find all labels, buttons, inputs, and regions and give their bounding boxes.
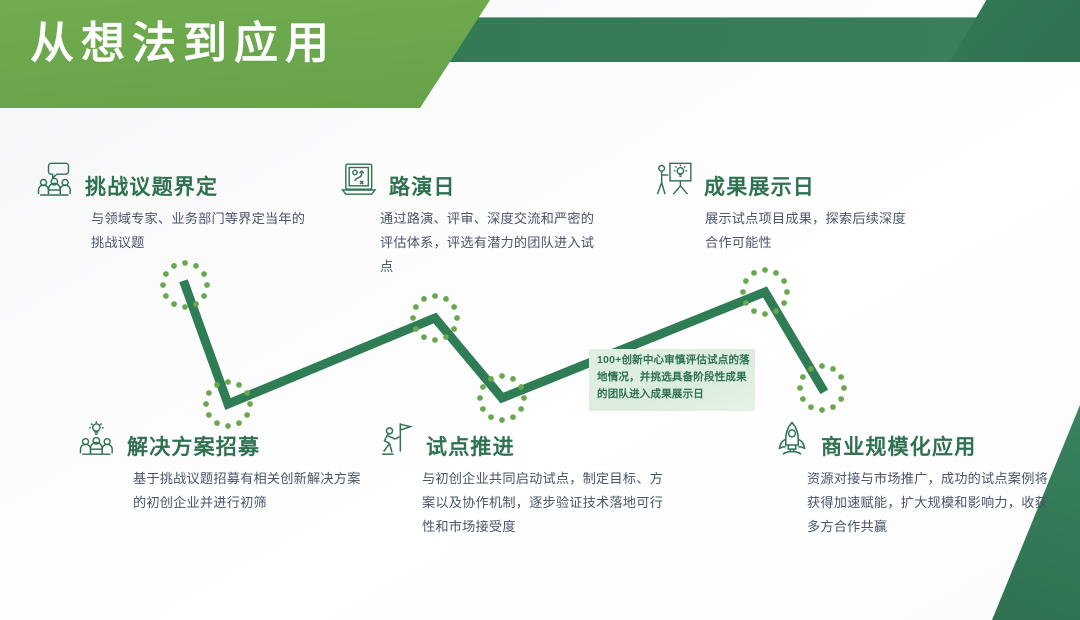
milestone-2-header: 路演日	[340, 160, 595, 200]
milestone-6-header: 商业规模化应用	[772, 420, 1052, 460]
milestone-5-description: 与初创企业共同启动试点，制定目标、方案以及协作机制，逐步验证技术落地可行性和市场…	[422, 467, 667, 539]
milestone-4-title: 解决方案招募	[127, 437, 260, 460]
milestone-6: 商业规模化应用 资源对接与市场推广，成功的试点案例将获得加速赋能，扩大规模和影响…	[772, 420, 1052, 539]
milestone-1: 挑战议题界定 与领域专家、业务部门等界定当年的挑战议题	[36, 160, 306, 255]
climber-flag-icon	[377, 420, 417, 460]
milestone-1-description: 与领域专家、业务部门等界定当年的挑战议题	[91, 207, 306, 255]
milestone-3: 成果展示日 展示试点项目成果，探索后续深度合作可能性	[655, 160, 915, 255]
presentation-board-strategy-icon	[340, 160, 380, 200]
infographic-canvas: 从想法到应用	[0, 0, 1080, 620]
milestone-4-header: 解决方案招募	[78, 420, 373, 460]
milestone-5-title: 试点推进	[426, 437, 515, 460]
milestone-1-title: 挑战议题界定	[85, 177, 218, 200]
milestone-2-title: 路演日	[389, 177, 456, 200]
milestone-4-description: 基于挑战议题招募有相关创新解决方案的初创企业并进行初筛	[133, 467, 373, 515]
milestone-3-header: 成果展示日	[655, 160, 915, 200]
milestone-3-title: 成果展示日	[704, 177, 815, 200]
milestone-5-header: 试点推进	[377, 420, 667, 460]
milestone-4: 解决方案招募 基于挑战议题招募有相关创新解决方案的初创企业并进行初筛	[78, 420, 373, 515]
milestone-2-description: 通过路演、评审、深度交流和严密的评估体系，评选有潜力的团队进入试点	[380, 207, 595, 279]
callout-text: 100+创新中心审慎评估试点的落地情况，并挑选具备阶段性成果的团队进入成果展示日	[597, 352, 755, 403]
rocket-icon	[772, 420, 812, 460]
people-lightbulb-icon	[78, 420, 118, 460]
milestone-6-title: 商业规模化应用	[821, 437, 976, 460]
milestone-3-description: 展示试点项目成果，探索后续深度合作可能性	[705, 207, 915, 255]
milestone-5: 试点推进 与初创企业共同启动试点，制定目标、方案以及协作机制，逐步验证技术落地可…	[377, 420, 667, 539]
milestone-1-header: 挑战议题界定	[36, 160, 306, 200]
milestone-6-description: 资源对接与市场推广，成功的试点案例将获得加速赋能，扩大规模和影响力，收获多方合作…	[807, 467, 1052, 539]
people-speech-bubble-icon	[36, 160, 76, 200]
presenter-easel-lightbulb-icon	[655, 160, 695, 200]
milestone-2: 路演日 通过路演、评审、深度交流和严密的评估体系，评选有潜力的团队进入试点	[340, 160, 595, 279]
